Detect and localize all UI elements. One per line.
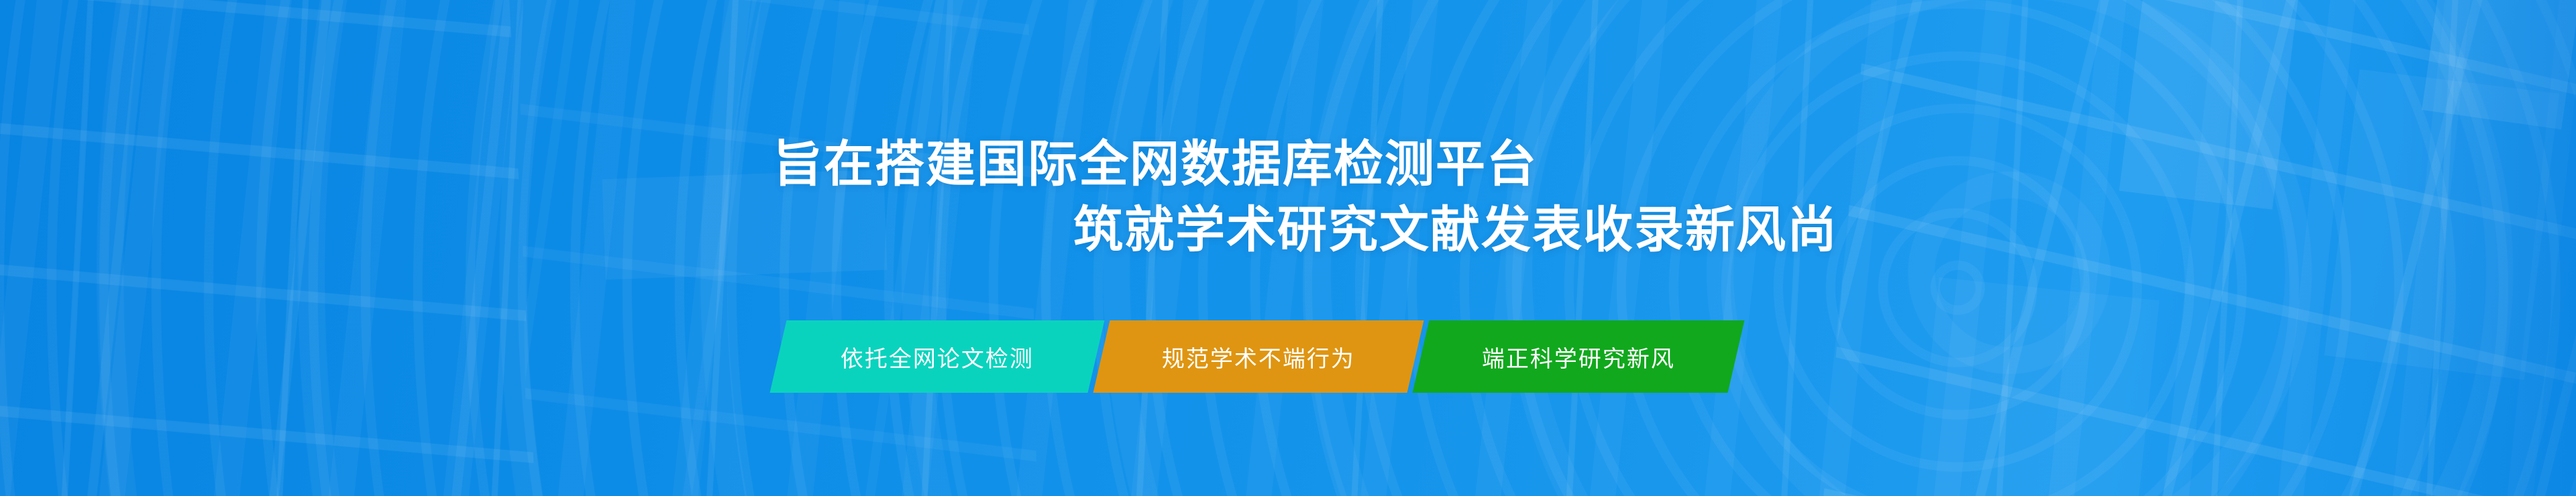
background-plate-c [1913, 277, 2159, 496]
feature-badge-research-integrity[interactable]: 端正科学研究新风 [1413, 320, 1745, 393]
headline-line-2: 筑就学术研究文献发表收录新风尚 [1073, 197, 2576, 263]
hero-banner: 旨在搭建国际全网数据库检测平台 筑就学术研究文献发表收录新风尚 依托全网论文检测… [0, 0, 2576, 496]
headline-line-1: 旨在搭建国际全网数据库检测平台 [773, 131, 2576, 197]
feature-badge-label: 规范学术不端行为 [1162, 340, 1355, 373]
feature-badge-strip: 依托全网论文检测 规范学术不端行为 端正科学研究新风 [778, 320, 1736, 393]
headline-block: 旨在搭建国际全网数据库检测平台 筑就学术研究文献发表收录新风尚 [0, 131, 2576, 263]
feature-badge-label: 依托全网论文检测 [841, 340, 1034, 373]
feature-badge-misconduct-regulation[interactable]: 规范学术不端行为 [1093, 320, 1424, 393]
feature-badge-label: 端正科学研究新风 [1482, 340, 1675, 373]
feature-badge-paper-detection[interactable]: 依托全网论文检测 [770, 320, 1105, 393]
background-plate-e [2422, 0, 2576, 129]
